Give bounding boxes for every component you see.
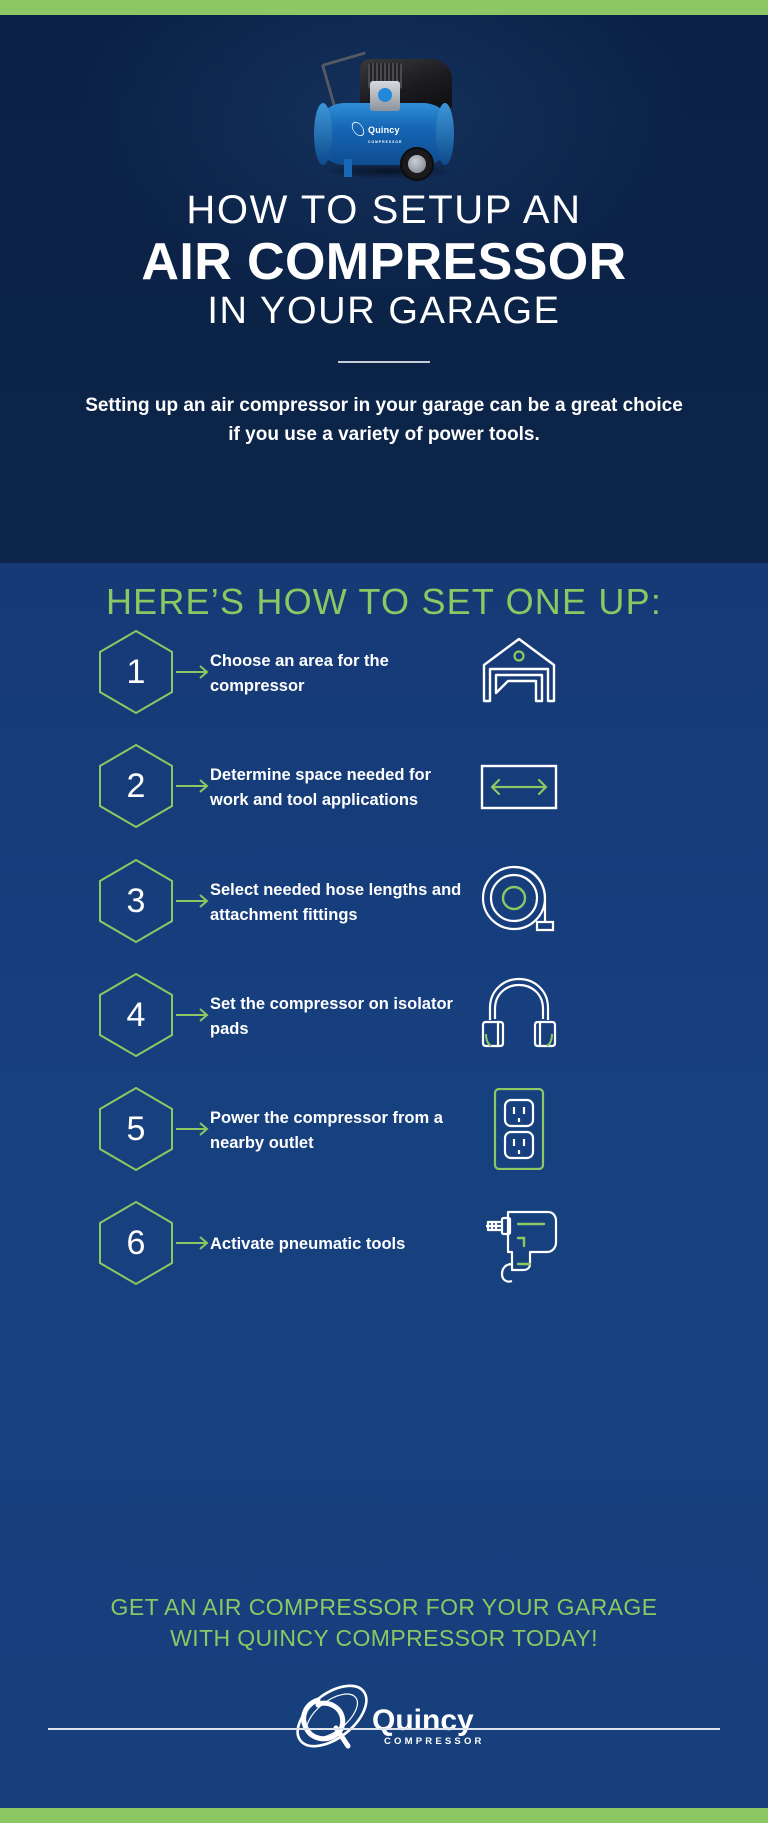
logo-wordmark: Quincy [372, 1704, 474, 1737]
garage-icon [478, 631, 560, 713]
step-row: 2 Determine space needed for work and to… [0, 743, 768, 857]
step-row: 5 Power the compressor from a nearby out… [0, 1086, 768, 1200]
pneumatic-drill-icon [478, 1202, 560, 1284]
step-number: 5 [98, 1086, 174, 1172]
compressor-shadow [320, 163, 456, 179]
step-row: 6 Activate pneumatic tools [0, 1200, 768, 1314]
compressor-tank-cap-left [314, 103, 332, 165]
hero-section: Quincy COMPRESSOR HOW TO SETUP AN AIR CO… [0, 15, 768, 563]
top-accent-bar [0, 0, 768, 15]
step-hexagon: 3 [98, 858, 174, 944]
compressor-foot [344, 159, 352, 177]
step-row: 3 Select needed hose lengths and attachm… [0, 858, 768, 972]
hero-subtitle: Setting up an air compressor in your gar… [84, 391, 684, 449]
footer-section: GET AN AIR COMPRESSOR FOR YOUR GARAGE WI… [0, 1578, 768, 1808]
step-label: Determine space needed for work and tool… [210, 763, 470, 813]
cta-line-2: WITH QUINCY COMPRESSOR TODAY! [40, 1623, 728, 1654]
hero-title-line-3: IN YOUR GARAGE [0, 289, 768, 333]
step-arrow-icon [176, 662, 212, 682]
step-arrow-icon [176, 1233, 212, 1253]
step-hexagon: 6 [98, 1200, 174, 1286]
step-row: 4 Set the compressor on isolator pads [0, 972, 768, 1086]
step-arrow-icon [176, 1119, 212, 1139]
quincy-compressor-logo: Quincy COMPRESSOR [274, 1674, 494, 1760]
compressor-tank-logo-sub: COMPRESSOR [368, 137, 422, 147]
step-arrow-icon [176, 776, 212, 796]
step-label: Set the compressor on isolator pads [210, 992, 470, 1042]
step-label: Select needed hose lengths and attachmen… [210, 878, 470, 928]
step-hexagon: 1 [98, 629, 174, 715]
space-measure-icon [478, 745, 560, 827]
compressor-tank-cap-right [436, 103, 454, 165]
steps-heading: HERE’S HOW TO SET ONE UP: [0, 581, 768, 623]
compressor-product-image: Quincy COMPRESSOR [274, 41, 494, 181]
step-hexagon: 2 [98, 743, 174, 829]
footer-divider [48, 1728, 720, 1730]
compressor-tank-logo: Quincy COMPRESSOR [350, 121, 422, 145]
compressor-wheel-hub [408, 155, 426, 173]
hero-title-line-2: AIR COMPRESSOR [0, 233, 768, 291]
step-arrow-icon [176, 1005, 212, 1025]
step-number: 1 [98, 629, 174, 715]
cta-text: GET AN AIR COMPRESSOR FOR YOUR GARAGE WI… [40, 1592, 728, 1654]
step-label: Activate pneumatic tools [210, 1232, 470, 1257]
step-hexagon: 5 [98, 1086, 174, 1172]
power-outlet-icon [478, 1088, 560, 1170]
hero-title-line-1: HOW TO SETUP AN [0, 187, 768, 233]
step-arrow-icon [176, 891, 212, 911]
compressor-tank-logo-text: Quincy [368, 125, 400, 135]
step-number: 4 [98, 972, 174, 1058]
infographic-page: Quincy COMPRESSOR HOW TO SETUP AN AIR CO… [0, 0, 768, 1823]
step-number: 2 [98, 743, 174, 829]
logo-subtext: COMPRESSOR [384, 1736, 485, 1747]
step-label: Power the compressor from a nearby outle… [210, 1106, 470, 1156]
compressor-pump-badge [378, 88, 392, 102]
hero-divider [338, 361, 430, 363]
hose-reel-icon [478, 860, 560, 942]
cta-line-1: GET AN AIR COMPRESSOR FOR YOUR GARAGE [40, 1592, 728, 1623]
step-number: 6 [98, 1200, 174, 1286]
bottom-accent-bar [0, 1808, 768, 1823]
step-label: Choose an area for the compressor [210, 649, 470, 699]
step-number: 3 [98, 858, 174, 944]
quincy-mark-icon [349, 120, 366, 139]
step-row: 1 Choose an area for the compressor [0, 629, 768, 743]
step-hexagon: 4 [98, 972, 174, 1058]
ear-protection-icon [478, 974, 560, 1056]
